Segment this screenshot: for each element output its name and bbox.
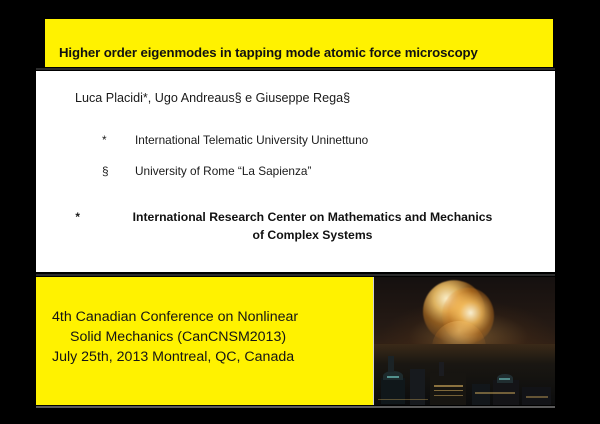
window-light — [499, 378, 510, 380]
tower — [388, 356, 393, 372]
research-center-row: * International Research Center on Mathe… — [36, 209, 555, 244]
window-light — [434, 385, 463, 387]
slide-canvas: Higher order eigenmodes in tapping mode … — [0, 0, 600, 424]
conference-line-1: 4th Canadian Conference on Nonlinear — [52, 307, 359, 327]
fireworks-over-city-photo — [373, 277, 555, 405]
window-light — [387, 376, 400, 378]
conference-line-2: Solid Mechanics (CanCNSM2013) — [52, 327, 359, 347]
slide-body-panel: Luca Placidi*, Ugo Andreaus§ e Giuseppe … — [36, 71, 555, 272]
building — [472, 384, 490, 405]
affiliation-text-2: University of Rome “La Sapienza” — [135, 164, 311, 178]
slide-title-bar: Higher order eigenmodes in tapping mode … — [45, 19, 553, 67]
conference-strip: 4th Canadian Conference on Nonlinear Sol… — [36, 277, 555, 405]
affiliation-row-2: § University of Rome “La Sapienza” — [102, 164, 311, 178]
affiliation-marker-section-sign: § — [102, 164, 135, 178]
research-center-line-1: International Research Center on Mathema… — [86, 209, 539, 227]
window-light — [434, 390, 463, 392]
city-skyline — [374, 344, 555, 405]
window-light — [526, 396, 548, 398]
affiliation-row-1: * International Telematic University Uni… — [102, 133, 368, 147]
authors-line: Luca Placidi*, Ugo Andreaus§ e Giuseppe … — [75, 91, 350, 105]
page-title: Higher order eigenmodes in tapping mode … — [59, 46, 478, 61]
research-center-line-2: of Complex Systems — [86, 227, 539, 245]
conference-line-3: July 25th, 2013 Montreal, QC, Canada — [52, 347, 359, 367]
research-center-name: International Research Center on Mathema… — [80, 209, 555, 244]
conference-info-block: 4th Canadian Conference on Nonlinear Sol… — [36, 277, 373, 405]
tower — [439, 362, 444, 376]
window-light — [434, 395, 463, 397]
affiliation-marker-asterisk: * — [102, 133, 135, 147]
research-center-marker: * — [36, 209, 80, 224]
window-light — [378, 399, 429, 401]
affiliation-text-1: International Telematic University Unine… — [135, 133, 368, 147]
window-light — [475, 392, 515, 394]
